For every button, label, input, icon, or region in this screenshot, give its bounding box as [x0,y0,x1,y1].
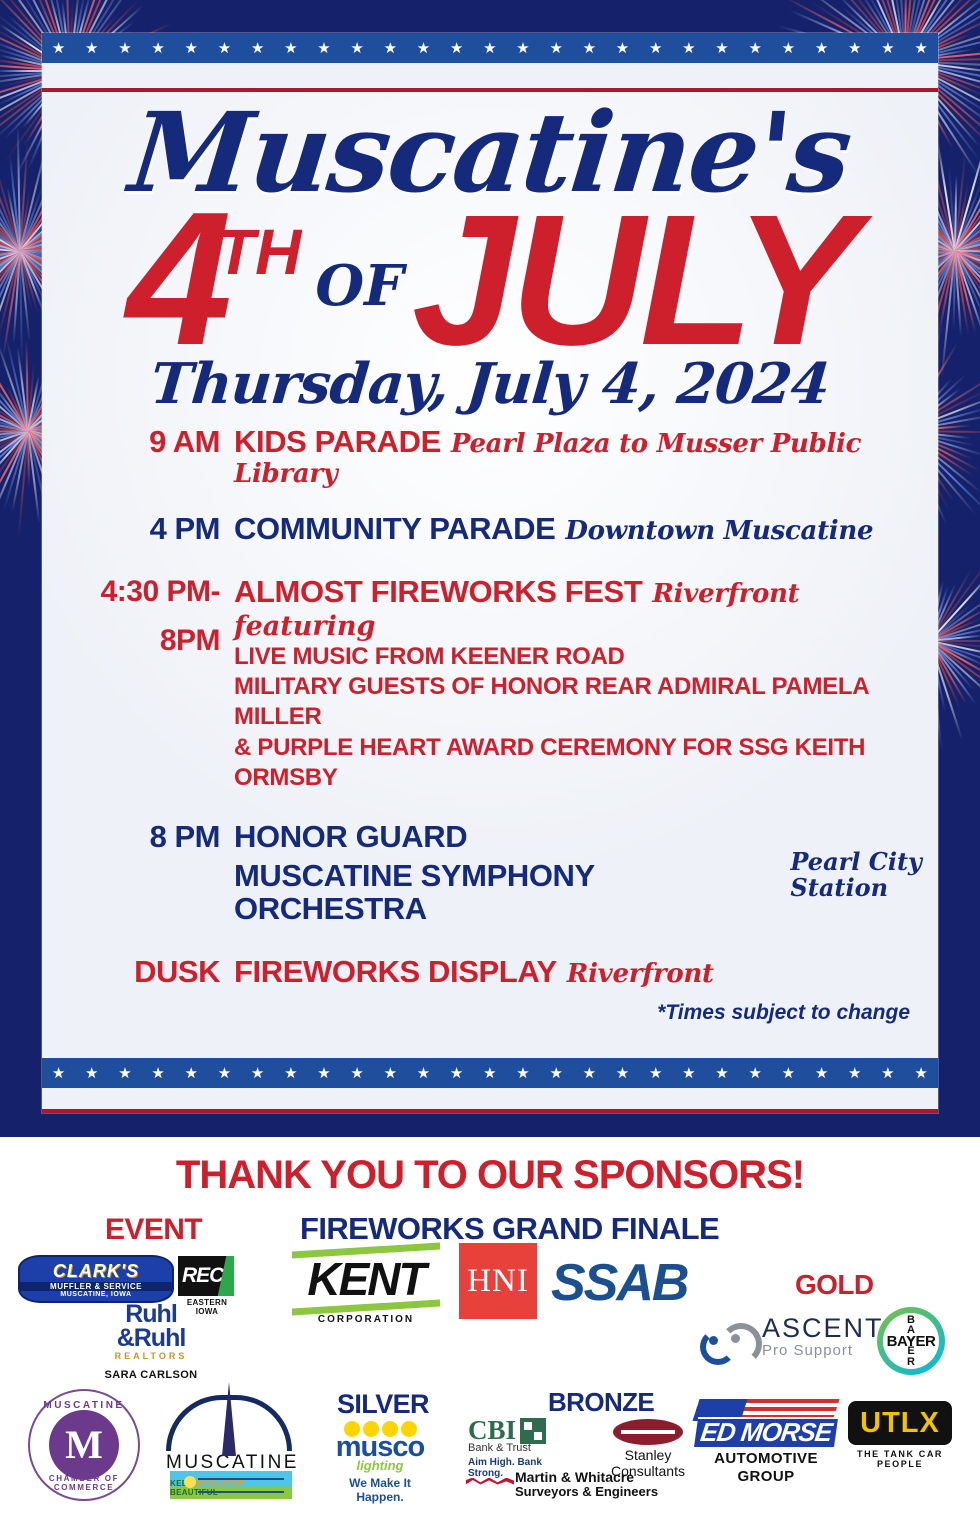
ruhl-line2: &Ruhl [96,1327,206,1351]
schedule-list: 9 AM KIDS PARADEPearl Plaza to Musser Pu… [42,426,938,1025]
star-glyph: ★ [151,1066,164,1081]
star-glyph: ★ [483,41,496,56]
martin-text: Martin & Whitacre Surveyors & Engineers [515,1469,658,1500]
star-glyph: ★ [881,41,894,56]
schedule-time: 9 AM [54,426,234,458]
cbi-row: CBI [468,1417,578,1444]
chamber-monogram: M [65,1425,103,1465]
star-glyph: ★ [583,41,596,56]
star-glyph: ★ [384,41,397,56]
card-body: Muscatine's 4 TH OF JULY Thursday, July … [42,92,938,1058]
schedule-row-fireworks-display: DUSK FIREWORKS DISPLAYRiverfront [54,956,922,989]
chamber-ring-bottom: CHAMBER OF COMMERCE [30,1474,138,1492]
cbi-name: CBI [468,1417,516,1444]
schedule-location: Riverfront [567,959,714,989]
sponsor-logo-utlx[interactable]: UTLX [848,1401,952,1445]
schedule-body: ALMOST FIREWORKS FESTRiverfront featurin… [234,576,922,793]
chamber-inner-circle: M [49,1410,119,1480]
utlx-caption: THE TANK CAR PEOPLE [840,1449,960,1469]
schedule-body: FIREWORKS DISPLAYRiverfront [234,956,922,989]
ascent-name: ASCENT [762,1315,884,1342]
star-glyph: ★ [284,41,297,56]
star-glyph: ★ [815,1066,828,1081]
sponsor-logo-chamber-of-commerce[interactable]: MUSCATINE M CHAMBER OF COMMERCE [28,1389,140,1501]
clarks-name: CLARK'S [53,1261,139,1282]
star-glyph: ★ [914,1066,927,1081]
fourth-of-july-poster: ★★★★★★★★★★★★★★★★★★★★★★★★★★★ Muscatine's … [0,0,980,1514]
ascent-dot-1 [709,1336,718,1345]
muscatine-spire [222,1382,236,1456]
featuring-label: featuring [234,611,922,642]
title-ordinal: TH [216,220,301,284]
sponsor-logo-ssab[interactable]: SSAB [551,1257,687,1309]
star-glyph: ★ [516,1066,529,1081]
chamber-ring-top: MUSCATINE [30,1400,138,1411]
star-glyph: ★ [450,1066,463,1081]
star-glyph: ★ [118,41,131,56]
tier-label-silver: SILVER [337,1389,429,1420]
star-glyph: ★ [384,1066,397,1081]
sponsor-logo-keep-muscatine-beautiful[interactable]: KEEP MUSCATINE BEAUTIFUL [170,1471,292,1499]
sponsor-logo-clarks[interactable]: CLARK'S MUFFLER & SERVICE MUSCATINE, IOW… [18,1255,174,1303]
star-glyph: ★ [516,41,529,56]
star-glyph: ★ [616,41,629,56]
star-glyph: ★ [583,1066,596,1081]
featuring-detail-3: & PURPLE HEART AWARD CEREMONY FOR SSG KE… [234,733,922,793]
star-glyph: ★ [52,41,65,56]
sponsor-logo-ascent[interactable]: ASCENT Pro Support [700,1315,884,1360]
kmb-sun-icon [184,1476,196,1488]
martin-zigzag-icon [466,1474,510,1496]
schedule-location: Downtown Muscatine [565,516,873,546]
star-glyph: ★ [218,1066,231,1081]
edmorse-name: ED MORSE [694,1417,838,1449]
star-glyph: ★ [85,1066,98,1081]
sponsor-logo-rec[interactable]: REC [178,1256,234,1296]
schedule-row-community-parade: 4 PM COMMUNITY PARADEDowntown Muscatine [54,513,922,546]
sponsor-logo-ruhl[interactable]: Ruhl &Ruhl REALTORS [96,1303,206,1361]
sponsor-logo-martin-whitacre[interactable]: Martin & Whitacre Surveyors & Engineers [466,1469,666,1500]
tier-label-finale: FIREWORKS GRAND FINALE [300,1211,719,1247]
schedule-location: Riverfront [652,579,799,609]
star-glyph: ★ [815,41,828,56]
star-band-top: ★★★★★★★★★★★★★★★★★★★★★★★★★★★ [42,33,938,63]
sponsor-logo-kent[interactable]: KENT CORPORATION [292,1247,440,1325]
title-script: Muscatine's [42,98,938,208]
star-glyph: ★ [317,1066,330,1081]
star-glyph: ★ [284,1066,297,1081]
schedule-time: DUSK [54,956,234,988]
tier-label-gold: GOLD [795,1269,873,1301]
schedule-event-line2: MUSCATINE SYMPHONY ORCHESTRA [234,860,780,926]
clarks-line2: MUFFLER & SERVICE [20,1282,172,1291]
tier-label-bronze: BRONZE [548,1387,654,1418]
star-glyph: ★ [748,41,761,56]
star-glyph: ★ [715,41,728,56]
star-glyph: ★ [185,41,198,56]
schedule-body: KIDS PARADEPearl Plaza to Musser Public … [234,426,922,489]
martin-line2: Surveyors & Engineers [515,1485,658,1500]
sponsor-logo-musco[interactable]: musco lighting We Make It Happen. [328,1421,432,1504]
kmb-bridge-icon [198,1478,284,1493]
star-glyph: ★ [85,41,98,56]
star-glyph: ★ [881,1066,894,1081]
ascent-arc-2 [720,1323,762,1365]
ascent-dot-2 [731,1334,740,1343]
utlx-name: UTLX [860,1407,940,1440]
times-subject-note: *Times subject to change [54,1001,922,1025]
title-month: JULY [412,205,854,358]
star-glyph: ★ [682,41,695,56]
poster-card: ★★★★★★★★★★★★★★★★★★★★★★★★★★★ Muscatine's … [42,33,938,1113]
title-number: 4 [126,202,224,358]
star-glyph: ★ [350,1066,363,1081]
edmorse-sub: AUTOMOTIVE GROUP [696,1450,836,1488]
ruhl-line3: REALTORS [96,1351,206,1361]
schedule-row-kids-parade: 9 AM KIDS PARADEPearl Plaza to Musser Pu… [54,426,922,489]
sponsors-heading: THANK YOU TO OUR SPONSORS! [0,1137,980,1198]
schedule-row-almost-fireworks-fest: 4:30 PM- 8PM ALMOST FIREWORKS FESTRiverf… [54,576,922,793]
title-of: OF [315,258,404,314]
sponsor-logo-muscatine-city[interactable]: MUSCATINE [166,1395,296,1474]
star-glyph: ★ [616,1066,629,1081]
featuring-detail-2: MILITARY GUESTS OF HONOR REAR ADMIRAL PA… [234,672,922,732]
schedule-body: HONOR GUARD MUSCATINE SYMPHONY ORCHESTRA… [234,821,922,926]
schedule-event: ALMOST FIREWORKS FEST [234,574,642,609]
star-glyph: ★ [649,41,662,56]
schedule-time: 8 PM [54,821,234,853]
star-glyph: ★ [782,1066,795,1081]
star-glyph: ★ [417,1066,430,1081]
honor-guard-location: Pearl City Station [780,821,922,901]
star-glyph: ★ [483,1066,496,1081]
star-glyph: ★ [450,41,463,56]
musco-tagline: We Make It Happen. [328,1476,432,1504]
star-glyph: ★ [649,1066,662,1081]
star-glyph: ★ [748,1066,761,1081]
sponsors-section: THANK YOU TO OUR SPONSORS! EVENT FIREWOR… [0,1137,980,1514]
ssab-name: SSAB [551,1254,687,1312]
schedule-time-line2: 8PM [54,625,220,656]
sponsor-logo-hni[interactable]: HNI [459,1243,537,1319]
clarks-line3: MUSCATINE, IOWA [60,1291,131,1298]
hni-name: HNI [467,1263,529,1300]
sponsor-logo-ed-morse[interactable]: ED MORSE AUTOMOTIVE GROUP [696,1399,836,1487]
star-glyph: ★ [52,1066,65,1081]
star-glyph: ★ [682,1066,695,1081]
cbi-sub: Bank & Trust [468,1442,578,1454]
star-glyph: ★ [185,1066,198,1081]
title-block: Muscatine's 4 TH OF JULY Thursday, July … [42,92,938,412]
star-glyph: ★ [848,1066,861,1081]
stanley-ellipse-icon [613,1419,683,1445]
title-big-row: 4 TH OF JULY [42,202,938,358]
honor-guard-events: HONOR GUARD MUSCATINE SYMPHONY ORCHESTRA [234,821,780,926]
rec-name: REC [178,1264,223,1288]
star-glyph: ★ [350,41,363,56]
star-glyph: ★ [848,41,861,56]
ascent-sub: Pro Support [762,1342,884,1360]
schedule-location-line2: Station [790,875,922,901]
star-glyph: ★ [251,1066,264,1081]
schedule-event: COMMUNITY PARADE [234,511,555,546]
kent-sub: CORPORATION [292,1314,440,1325]
ruhl-agent-name: SARA CARLSON [86,1369,216,1381]
star-glyph: ★ [151,41,164,56]
martin-line1: Martin & Whitacre [515,1469,658,1485]
bayer-vertical: B A Y E R [907,1315,915,1367]
schedule-body: COMMUNITY PARADEDowntown Muscatine [234,513,922,546]
schedule-event: KIDS PARADE [234,424,441,459]
schedule-location-line1: Pearl City [790,849,922,875]
sponsor-logo-bayer[interactable]: BAYER B A Y E R [877,1307,945,1375]
ascent-mark-icon [700,1323,756,1353]
star-glyph: ★ [715,1066,728,1081]
rule-bottom [42,1109,938,1113]
muscatine-arc [166,1395,292,1451]
tier-label-event: EVENT [105,1213,202,1247]
kent-name: KENT [292,1256,440,1302]
star-glyph: ★ [118,1066,131,1081]
bayer-inner: BAYER B A Y E R [883,1313,939,1369]
schedule-event-line1: HONOR GUARD [234,821,780,854]
star-glyph: ★ [549,1066,562,1081]
star-glyph: ★ [251,41,264,56]
star-glyph: ★ [782,41,795,56]
featuring-detail-1: LIVE MUSIC FROM KEENER ROAD [234,642,922,672]
star-glyph: ★ [417,41,430,56]
schedule-time: 4:30 PM- 8PM [54,576,234,656]
star-band-bottom: ★★★★★★★★★★★★★★★★★★★★★★★★★★★ [42,1058,938,1088]
schedule-time-line1: 4:30 PM- [54,576,220,607]
schedule-time: 4 PM [54,513,234,545]
star-glyph: ★ [218,41,231,56]
schedule-row-honor-guard: 8 PM HONOR GUARD MUSCATINE SYMPHONY ORCH… [54,821,922,926]
schedule-event: FIREWORKS DISPLAY [234,954,557,989]
cbi-mark-icon [520,1418,546,1444]
ascent-text: ASCENT Pro Support [762,1315,884,1360]
title-date: Thursday, July 4, 2024 [42,356,938,412]
star-glyph: ★ [914,41,927,56]
star-glyph: ★ [317,41,330,56]
star-glyph: ★ [549,41,562,56]
